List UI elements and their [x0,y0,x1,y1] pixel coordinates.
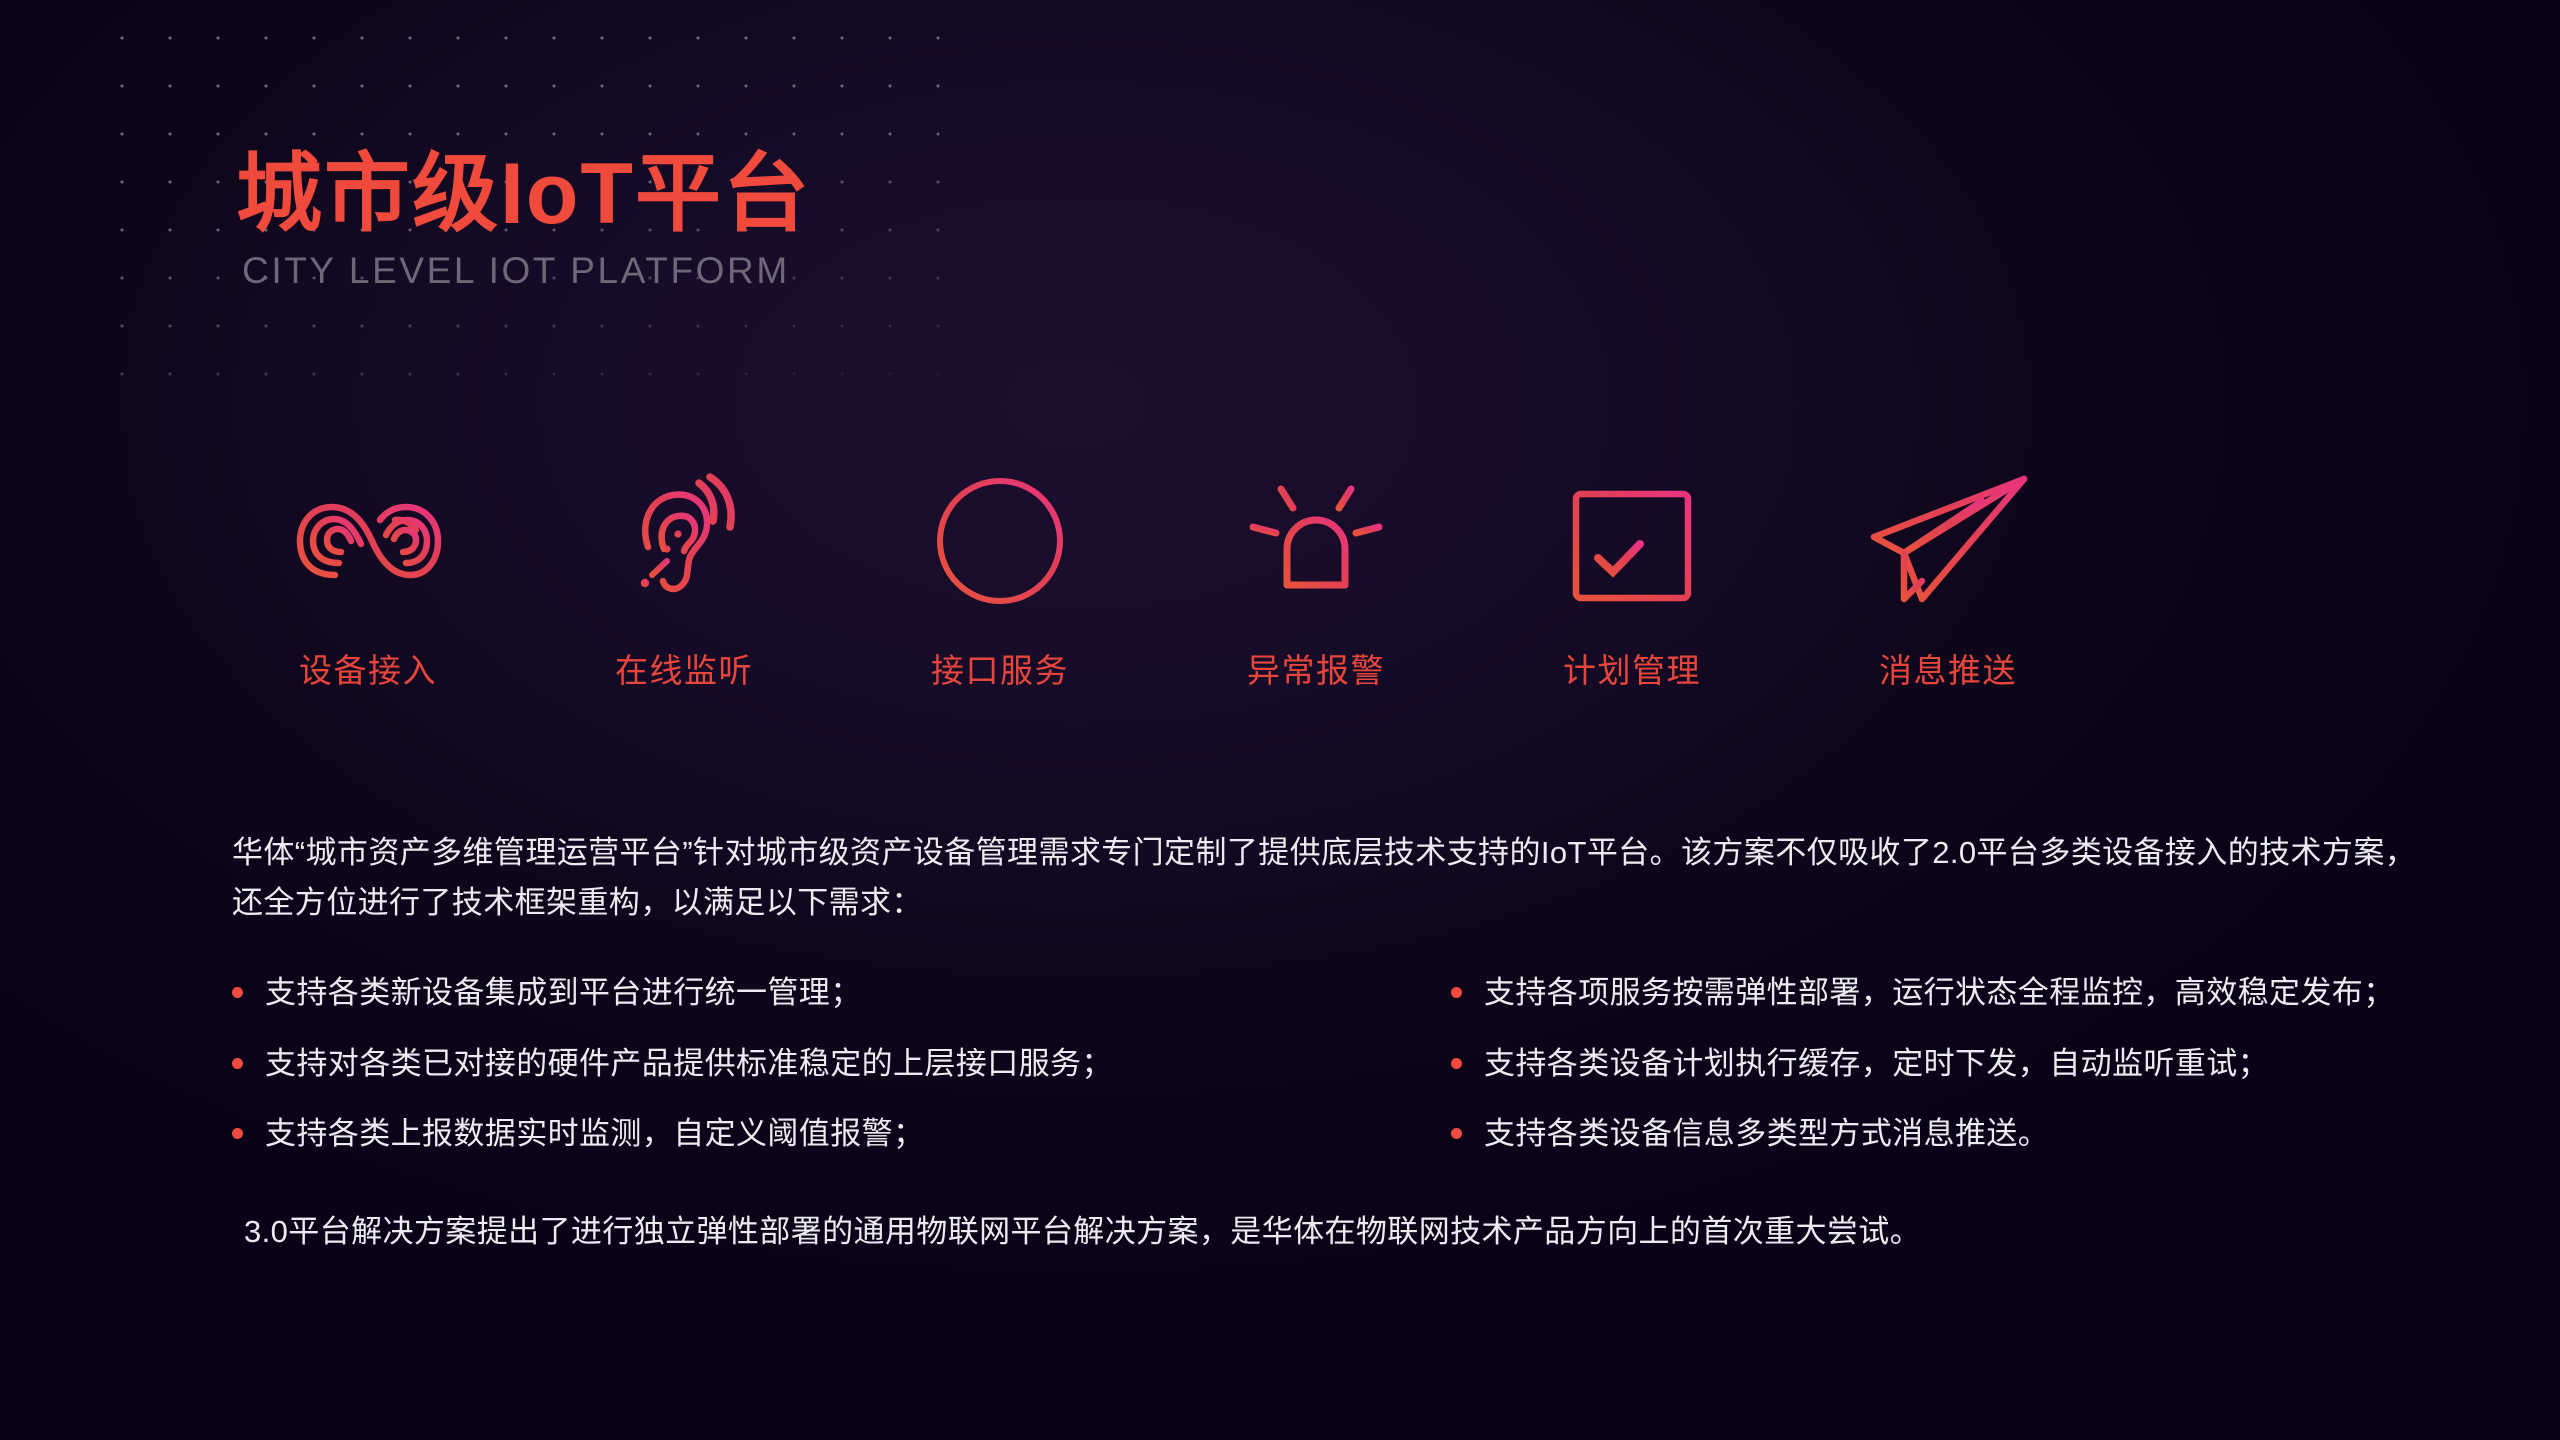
feature-item-abnormal-alarm[interactable]: 异常报警 [1158,466,1474,692]
bullet-list-left: 支持各类新设备集成到平台进行统一管理； 支持对各类已对接的硬件产品提供标准稳定的… [232,968,1347,1159]
list-item-label: 支持对各类已对接的硬件产品提供标准稳定的上层接口服务； [265,1046,1113,1081]
page-header: 城市级IoT平台 CITY LEVEL IOT PLATFORM [236,148,1436,292]
feature-label: 在线监听 [615,644,753,692]
bullet-dot-icon [1451,1128,1462,1139]
feature-item-message-push[interactable]: 消息推送 [1790,466,2106,692]
list-item: 支持各类上报数据实时监测，自定义阈值报警； [232,1109,1347,1159]
list-item-label: 支持各类设备计划执行缓存，定时下发，自动监听重试； [1484,1046,2269,1081]
list-item-label: 支持各类设备信息多类型方式消息推送。 [1484,1116,2049,1151]
bullet-dot-icon [232,987,243,998]
feature-label: 计划管理 [1563,644,1701,692]
list-item-label: 支持各类上报数据实时监测，自定义阈值报警； [265,1116,924,1151]
page-subtitle: CITY LEVEL IOT PLATFORM [242,251,1436,292]
list-item: 支持各类设备计划执行缓存，定时下发，自动监听重试； [1451,1039,2461,1089]
calendar-check-icon [1557,466,1707,616]
bullet-dot-icon [1451,987,1462,998]
bullet-list-right: 支持各项服务按需弹性部署，运行状态全程监控，高效稳定发布； 支持各类设备计划执行… [1347,968,2461,1159]
page-title: 城市级IoT平台 [236,148,1436,241]
bullet-dot-icon [232,1058,243,1069]
requirement-bullet-columns: 支持各类新设备集成到平台进行统一管理； 支持对各类已对接的硬件产品提供标准稳定的… [232,968,2462,1159]
bullet-dot-icon [1451,1058,1462,1069]
list-item-label: 支持各项服务按需弹性部署，运行状态全程监控，高效稳定发布； [1484,975,2395,1010]
list-item: 支持各项服务按需弹性部署，运行状态全程监控，高效稳定发布； [1451,968,2461,1018]
paper-plane-icon [1873,466,2023,616]
circle-sliders-icon [925,466,1075,616]
feature-item-online-listening[interactable]: 在线监听 [526,466,842,692]
feature-label: 消息推送 [1879,644,2017,692]
bullet-dot-icon [232,1128,243,1139]
infinity-loop-icon [293,466,443,616]
intro-paragraph: 华体“城市资产多维管理运营平台”针对城市级资产设备管理需求专门定制了提供底层技术… [232,828,2442,928]
body-copy: 华体“城市资产多维管理运营平台”针对城市级资产设备管理需求专门定制了提供底层技术… [232,828,2462,1257]
feature-item-api-service[interactable]: 接口服务 [842,466,1158,692]
list-item: 支持对各类已对接的硬件产品提供标准稳定的上层接口服务； [232,1039,1347,1089]
slide-root: 城市级IoT平台 CITY LEVEL IOT PLATFORM [0,0,2560,1440]
feature-label: 接口服务 [931,644,1069,692]
feature-item-device-access[interactable]: 设备接入 [210,466,526,692]
ear-listening-icon [609,466,759,616]
list-item: 支持各类设备信息多类型方式消息推送。 [1451,1109,2461,1159]
feature-label: 设备接入 [299,644,437,692]
feature-label: 异常报警 [1247,644,1385,692]
closing-paragraph: 3.0平台解决方案提出了进行独立弹性部署的通用物联网平台解决方案，是华体在物联网… [244,1207,2462,1257]
list-item-label: 支持各类新设备集成到平台进行统一管理； [265,975,862,1010]
alarm-siren-icon [1241,466,1391,616]
list-item: 支持各类新设备集成到平台进行统一管理； [232,968,1347,1018]
feature-item-plan-management[interactable]: 计划管理 [1474,466,1790,692]
feature-row: 设备接入 [210,466,2110,692]
